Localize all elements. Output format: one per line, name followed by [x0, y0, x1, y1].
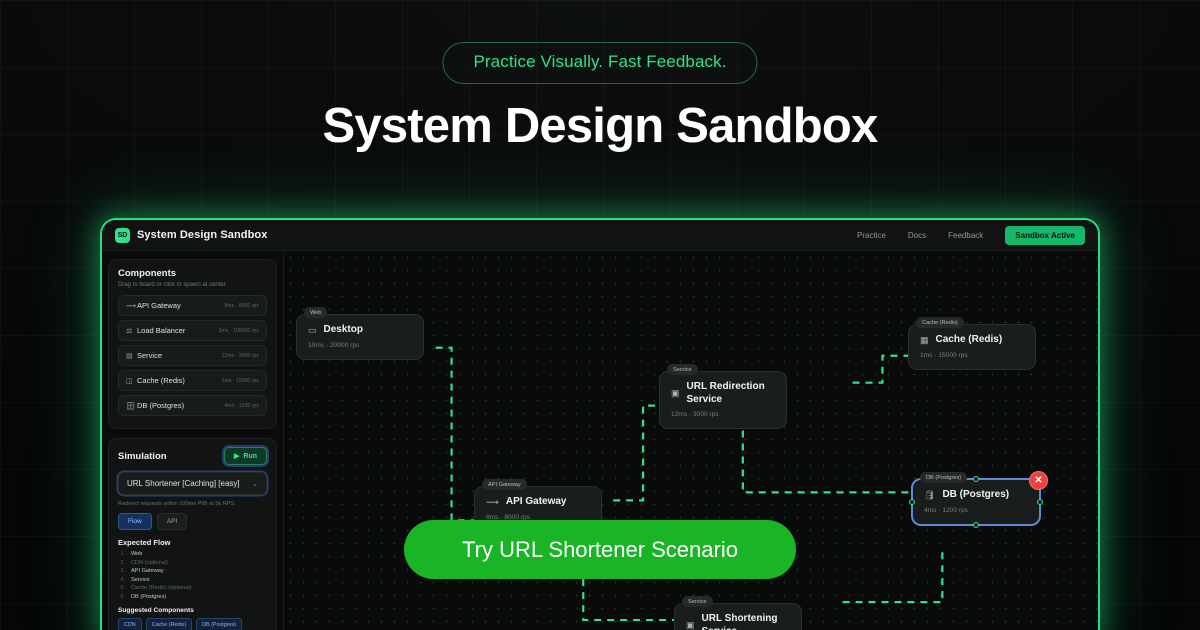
resize-handle-bottom[interactable]	[973, 522, 979, 528]
db-icon: 🗄	[126, 402, 137, 410]
cache-icon: ◫	[126, 377, 137, 385]
node-title: URL Shortening Service	[702, 613, 790, 630]
sidebar: Components Drag to board or click to spa…	[102, 251, 284, 630]
node-header: ▣ URL Redirection Service	[671, 381, 775, 406]
component-label: API Gateway	[137, 301, 181, 310]
component-metrics: 12ms · 3000 rps	[222, 353, 259, 359]
component-label: Load Balancer	[137, 326, 185, 335]
brand-name: System Design Sandbox	[137, 229, 267, 241]
scenario-select[interactable]: URL Shortener [Caching] [easy] ⌄	[118, 472, 267, 495]
components-list: ⟿ API Gateway 8ms · 8000 rps ⚖ Load Bala…	[118, 295, 267, 416]
flow-step-number: 6.	[118, 594, 125, 600]
app-logo-icon: SD	[115, 228, 130, 243]
list-item: 3. API Gateway	[118, 568, 267, 574]
list-item: 4. Service	[118, 577, 267, 583]
tab-api[interactable]: API	[157, 513, 187, 530]
node-title: API Gateway	[506, 496, 567, 509]
scenario-value: URL Shortener [Caching] [easy]	[127, 479, 240, 488]
component-item-service[interactable]: ▤ Service 12ms · 3000 rps	[118, 345, 267, 366]
node-title: DB (Postgres)	[942, 489, 1009, 502]
node-title: URL Redirection Service	[687, 381, 775, 406]
expected-flow-title: Expected Flow	[118, 538, 267, 547]
flow-step-number: 2.	[118, 560, 125, 566]
gateway-icon: ⟿	[126, 302, 137, 310]
edge-url-redirection-db	[743, 431, 913, 493]
list-item: 2. CDN (optional)	[118, 560, 267, 566]
components-title: Components	[118, 268, 267, 279]
component-item-load-balancer[interactable]: ⚖ Load Balancer 3ms · 100000 rps	[118, 320, 267, 341]
component-metrics: 8ms · 8000 rps	[224, 303, 259, 309]
edge-url-shortening-db	[843, 550, 943, 602]
flow-step-label: Cache (Redis) (optional)	[131, 585, 192, 591]
delete-node-button[interactable]: ✕	[1029, 471, 1048, 490]
node-type-tag: Service	[682, 596, 713, 607]
node-header: ▦ Cache (Redis)	[920, 334, 1024, 347]
desktop-icon: ▭	[308, 325, 317, 336]
scenario-note: Redirect requests within 100ms P95 at 5k…	[118, 501, 267, 507]
top-navigation: Practice Docs Feedback Sandbox Active	[857, 226, 1085, 245]
list-item: 1. Web	[118, 551, 267, 557]
canvas-node-cache-redis[interactable]: Cache (Redis) ▦ Cache (Redis) 1ms · 1500…	[908, 324, 1036, 370]
flow-step-label: Web	[131, 551, 142, 557]
page-title: System Design Sandbox	[0, 98, 1200, 154]
flow-step-number: 5.	[118, 585, 125, 591]
component-metrics: 1ms · 15000 rps	[222, 378, 259, 384]
nav-link-practice[interactable]: Practice	[857, 231, 886, 240]
components-subtitle: Drag to board or click to spawn at cente…	[118, 282, 267, 288]
status-badge: Sandbox Active	[1005, 226, 1085, 245]
flow-step-label: API Gateway	[131, 568, 164, 574]
component-item-cache-redis[interactable]: ◫ Cache (Redis) 1ms · 15000 rps	[118, 370, 267, 391]
node-header: 🛢 DB (Postgres)	[924, 489, 1028, 502]
service-icon: ▤	[126, 352, 137, 360]
resize-handle-left[interactable]	[909, 499, 915, 505]
list-item: 5. Cache (Redis) (optional)	[118, 585, 267, 591]
flow-step-label: DB (Postgres)	[131, 594, 166, 600]
suggested-components-chips: CDN Cache (Redis) DB (Postgres)	[118, 618, 267, 630]
resize-handle-right[interactable]	[1037, 499, 1043, 505]
run-label: Run	[243, 453, 257, 460]
nav-link-feedback[interactable]: Feedback	[948, 231, 983, 240]
chip-cache-redis[interactable]: Cache (Redis)	[146, 618, 192, 630]
resize-handle-top[interactable]	[973, 476, 979, 482]
flow-step-label: Service	[131, 577, 150, 583]
component-label: Cache (Redis)	[137, 376, 185, 385]
component-label: Service	[137, 351, 162, 360]
node-metrics: 1ms · 15000 rps	[920, 352, 1024, 359]
node-metrics: 10ms · 20000 rps	[308, 342, 412, 349]
flow-step-label: CDN (optional)	[131, 560, 168, 566]
suggested-components-title: Suggested Components	[118, 607, 267, 614]
edge-url-redirection-cache	[853, 356, 913, 383]
hero-eyebrow-badge: Practice Visually. Fast Feedback.	[442, 42, 757, 84]
view-toggle: Flow API	[118, 513, 267, 530]
cta-button[interactable]: Try URL Shortener Scenario	[404, 520, 796, 579]
list-item: 6. DB (Postgres)	[118, 594, 267, 600]
node-title: Desktop	[324, 324, 363, 337]
simulation-panel: Simulation ▶ Run URL Shortener [Caching]…	[108, 438, 277, 630]
landing-page: Practice Visually. Fast Feedback. System…	[0, 0, 1200, 630]
node-metrics: 4ms · 1200 rps	[924, 507, 1028, 514]
component-item-api-gateway[interactable]: ⟿ API Gateway 8ms · 8000 rps	[118, 295, 267, 316]
brand: SD System Design Sandbox	[115, 228, 267, 243]
node-header: ⟿ API Gateway	[486, 496, 590, 509]
canvas-node-db-postgres[interactable]: DB (Postgres) 🛢 DB (Postgres) 4ms · 1200…	[912, 479, 1040, 525]
flow-step-number: 1.	[118, 551, 125, 557]
canvas-node-url-shortening-service[interactable]: Service ▣ URL Shortening Service	[674, 603, 802, 630]
chevron-down-icon: ⌄	[252, 480, 258, 488]
node-type-tag: DB (Postgres)	[920, 472, 967, 483]
db-icon: 🛢	[924, 490, 935, 501]
node-title: Cache (Redis)	[936, 334, 1003, 347]
node-header: ▣ URL Shortening Service	[686, 613, 790, 630]
node-header: ▭ Desktop	[308, 324, 412, 337]
node-metrics: 12ms · 3000 rps	[671, 411, 775, 418]
node-type-tag: Service	[667, 364, 698, 375]
node-type-tag: Web	[304, 307, 327, 318]
tab-flow[interactable]: Flow	[118, 513, 152, 530]
play-icon: ▶	[234, 452, 239, 460]
canvas-node-desktop[interactable]: Web ▭ Desktop 10ms · 20000 rps	[296, 314, 424, 360]
node-type-tag: API Gateway	[482, 479, 527, 490]
component-metrics: 3ms · 100000 rps	[219, 328, 259, 334]
gateway-icon: ⟿	[486, 497, 499, 508]
component-metrics: 4ms · 1200 rps	[224, 403, 259, 409]
nav-link-docs[interactable]: Docs	[908, 231, 926, 240]
components-panel: Components Drag to board or click to spa…	[108, 259, 277, 429]
expected-flow-list: 1. Web 2. CDN (optional) 3. API Gateway	[118, 551, 267, 600]
run-simulation-button[interactable]: ▶ Run	[224, 447, 267, 465]
component-label: DB (Postgres)	[137, 401, 184, 410]
node-type-tag: Cache (Redis)	[916, 317, 964, 328]
simulation-title: Simulation	[118, 451, 167, 462]
app-topbar: SD System Design Sandbox Practice Docs F…	[102, 220, 1098, 251]
flow-step-number: 4.	[118, 577, 125, 583]
service-icon: ▣	[686, 620, 695, 630]
cache-icon: ▦	[920, 335, 929, 346]
service-icon: ▣	[671, 388, 680, 399]
canvas-node-url-redirection-service[interactable]: Service ▣ URL Redirection Service 12ms ·…	[659, 371, 787, 429]
component-item-db-postgres[interactable]: 🗄 DB (Postgres) 4ms · 1200 rps	[118, 395, 267, 416]
simulation-header: Simulation ▶ Run	[118, 447, 267, 465]
balancer-icon: ⚖	[126, 327, 137, 335]
flow-step-number: 3.	[118, 568, 125, 574]
chip-db-postgres[interactable]: DB (Postgres)	[196, 618, 242, 630]
chip-cdn[interactable]: CDN	[118, 618, 142, 630]
